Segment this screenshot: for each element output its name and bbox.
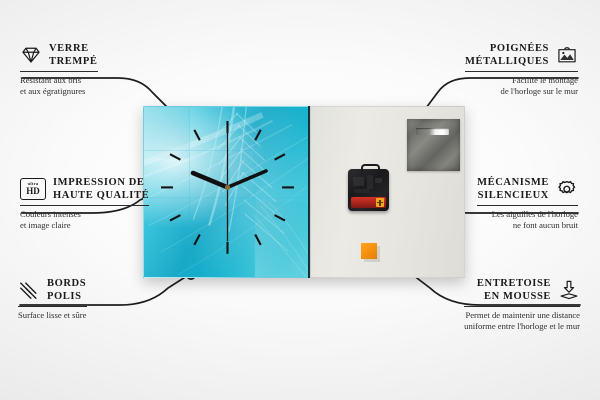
feature-verre-trempe[interactable]: VERRE TREMPÉ Résistant aux bris et aux é… (20, 42, 98, 97)
quartz-mechanism (348, 169, 389, 211)
feature-header: ultra HD IMPRESSION DE HAUTE QUALITÉ (20, 176, 149, 202)
hour-marker-2 (275, 154, 285, 160)
feature-subtitle-line2: uniforme entre l'horloge et le mur (464, 321, 580, 332)
feature-subtitle-line1: Résistant aux bris (20, 75, 98, 86)
hour-marker-4 (275, 215, 285, 221)
foam-spacer-arrow-icon (558, 279, 580, 301)
feature-title-line2: EN MOUSSE (477, 290, 551, 303)
infographic-stage: VERRE TREMPÉ Résistant aux bris et aux é… (0, 0, 600, 400)
hour-marker-10 (170, 154, 180, 160)
glass-clock-face (143, 106, 310, 278)
diamond-icon (20, 44, 42, 66)
hour-hand (193, 173, 228, 187)
clock-dial (144, 107, 310, 278)
hour-marker-5 (255, 235, 261, 245)
feature-title-line2: HAUTE QUALITÉ (53, 189, 149, 202)
minute-hand (228, 171, 267, 187)
hand-hub (225, 185, 230, 190)
clock-back-panel (310, 106, 465, 278)
feature-title-line1: IMPRESSION DE (53, 176, 149, 189)
feature-title: MÉCANISME SILENCIEUX (477, 176, 549, 202)
feature-title: POIGNÉES MÉTALLIQUES (465, 42, 549, 68)
feature-title-line2: TREMPÉ (49, 55, 98, 68)
feature-header: POIGNÉES MÉTALLIQUES (465, 42, 578, 68)
ultra-hd-icon-main-text: HD (26, 187, 40, 196)
feature-subtitle: Surface lisse et sûre (18, 310, 87, 321)
feature-title-line2: SILENCIEUX (477, 189, 549, 202)
feature-divider (20, 205, 149, 206)
feature-title-line1: POIGNÉES (465, 42, 549, 55)
feature-impression-haute-qualite[interactable]: ultra HD IMPRESSION DE HAUTE QUALITÉ Cou… (20, 176, 149, 231)
feature-title: VERRE TREMPÉ (49, 42, 98, 68)
hour-marker-1 (255, 130, 261, 140)
feature-bords-polis[interactable]: BORDS POLIS Surface lisse et sûre (18, 277, 87, 321)
feature-divider (477, 205, 578, 206)
mechanism-hook (361, 164, 380, 174)
feature-divider (20, 71, 98, 72)
feature-subtitle-line1: Facilite le montage (465, 75, 578, 86)
feature-subtitle: Résistant aux bris et aux égratignures (20, 75, 98, 97)
feature-subtitle: Couleurs intenses et image claire (20, 209, 149, 231)
feature-mecanisme-silencieux[interactable]: MÉCANISME SILENCIEUX Les aiguilles de l'… (477, 176, 578, 231)
feature-divider (464, 306, 580, 307)
feature-header: VERRE TREMPÉ (20, 42, 98, 68)
feature-title-line1: BORDS (47, 277, 86, 290)
hour-marker-11 (194, 130, 200, 140)
feature-title: IMPRESSION DE HAUTE QUALITÉ (53, 176, 149, 202)
feature-header: MÉCANISME SILENCIEUX (477, 176, 578, 202)
feature-title-line2: POLIS (47, 290, 86, 303)
feature-subtitle-line1: Permet de maintenir une distance (464, 310, 580, 321)
hour-marker-8 (170, 215, 180, 221)
feature-title: ENTRETOISE EN MOUSSE (477, 277, 551, 303)
feature-title-line1: VERRE (49, 42, 98, 55)
hanger-keyhole-slot (416, 128, 449, 135)
foam-spacer (361, 243, 377, 259)
feature-subtitle-line2: et image claire (20, 220, 149, 231)
polished-edges-icon (18, 279, 40, 301)
mechanism-details (353, 175, 383, 197)
feature-header: ENTRETOISE EN MOUSSE (464, 277, 580, 303)
feature-title-line1: ENTRETOISE (477, 277, 551, 290)
feature-subtitle: Les aiguilles de l'horloge ne font aucun… (477, 209, 578, 231)
gear-icon (556, 178, 578, 200)
feature-entretoise-en-mousse[interactable]: ENTRETOISE EN MOUSSE Permet de maintenir… (464, 277, 580, 332)
feature-poignees-metalliques[interactable]: POIGNÉES MÉTALLIQUES Facilite le montage… (465, 42, 578, 97)
battery (351, 197, 386, 208)
battery-plus-terminal (376, 198, 384, 207)
feature-title: BORDS POLIS (47, 277, 86, 303)
feature-title-line2: MÉTALLIQUES (465, 55, 549, 68)
hour-marker-7 (194, 235, 200, 245)
feature-subtitle-line2: ne font aucun bruit (477, 220, 578, 231)
feature-header: BORDS POLIS (18, 277, 87, 303)
feature-subtitle-line1: Les aiguilles de l'horloge (477, 209, 578, 220)
feature-subtitle: Permet de maintenir une distance uniform… (464, 310, 580, 332)
feature-title-line1: MÉCANISME (477, 176, 549, 189)
metal-hanger-plate (407, 119, 460, 171)
feature-divider (18, 306, 87, 307)
feature-subtitle-line2: de l'horloge sur le mur (465, 86, 578, 97)
feature-subtitle: Facilite le montage de l'horloge sur le … (465, 75, 578, 97)
product-image (143, 106, 465, 278)
feature-subtitle-line2: et aux égratignures (20, 86, 98, 97)
feature-divider (465, 71, 578, 72)
wall-mount-frame-icon (556, 44, 578, 66)
ultra-hd-icon: ultra HD (20, 178, 46, 200)
feature-subtitle-line1: Couleurs intenses (20, 209, 149, 220)
feature-subtitle-line1: Surface lisse et sûre (18, 310, 87, 321)
